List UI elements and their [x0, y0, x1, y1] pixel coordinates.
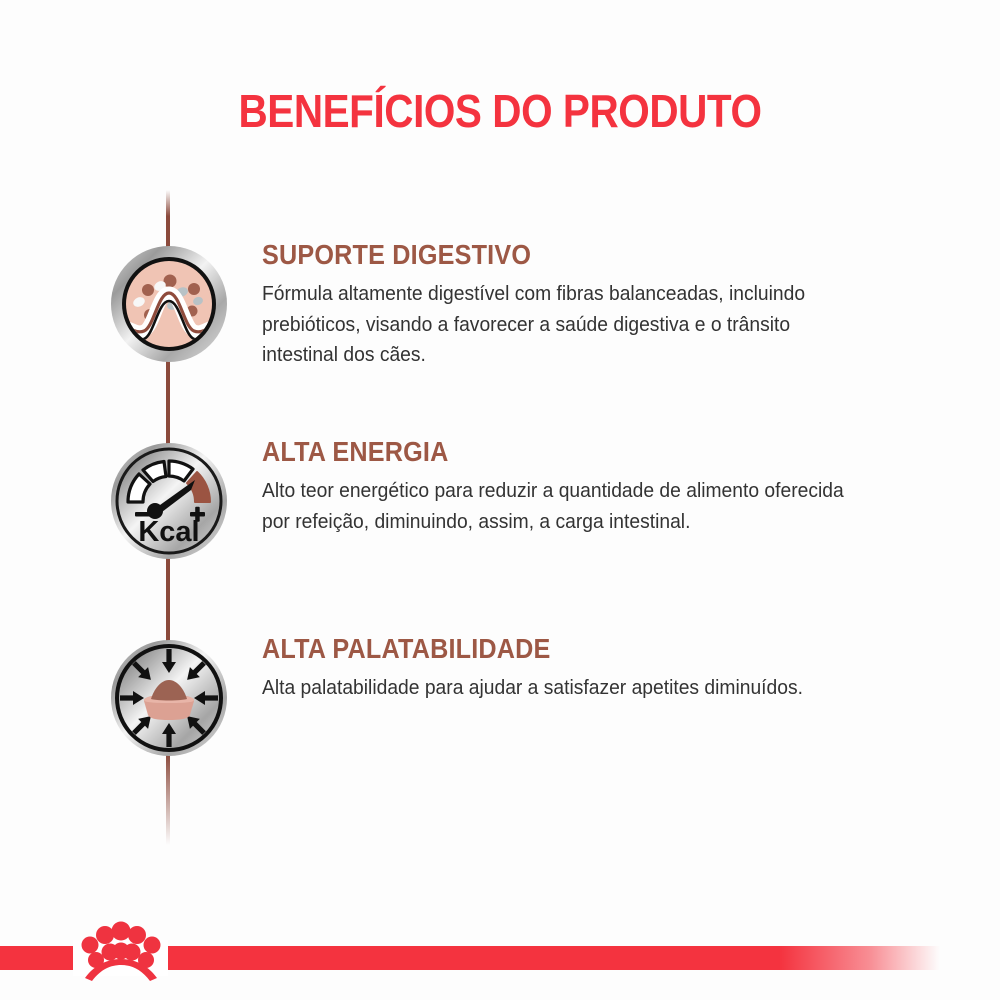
benefit-heading: SUPORTE DIGESTIVO — [262, 240, 820, 269]
royal-canin-crown-logo — [73, 916, 169, 982]
digestive-system-icon — [110, 245, 228, 363]
benefit-text: ALTA PALATABILIDADE Alta palatabilidade … — [262, 634, 882, 704]
benefit-heading: ALTA PALATABILIDADE — [262, 634, 820, 663]
benefit-body: Alta palatabilidade para ajudar a satisf… — [262, 673, 845, 703]
kcal-label: Kcal — [138, 516, 199, 548]
benefit-body: Alto teor energético para reduzir a quan… — [262, 476, 845, 536]
product-benefits-page: BENEFÍCIOS DO PRODUTO — [0, 0, 1000, 1000]
page-title: BENEFÍCIOS DO PRODUTO — [60, 84, 940, 138]
kcal-gauge-icon: Kcal — [110, 442, 228, 560]
benefit-heading: ALTA ENERGIA — [262, 437, 820, 466]
benefit-text: SUPORTE DIGESTIVO Fórmula altamente dige… — [262, 240, 882, 370]
benefit-text: ALTA ENERGIA Alto teor energético para r… — [262, 437, 882, 537]
benefit-body: Fórmula altamente digestível com fibras … — [262, 279, 845, 369]
food-bowl-attraction-icon — [110, 639, 228, 757]
